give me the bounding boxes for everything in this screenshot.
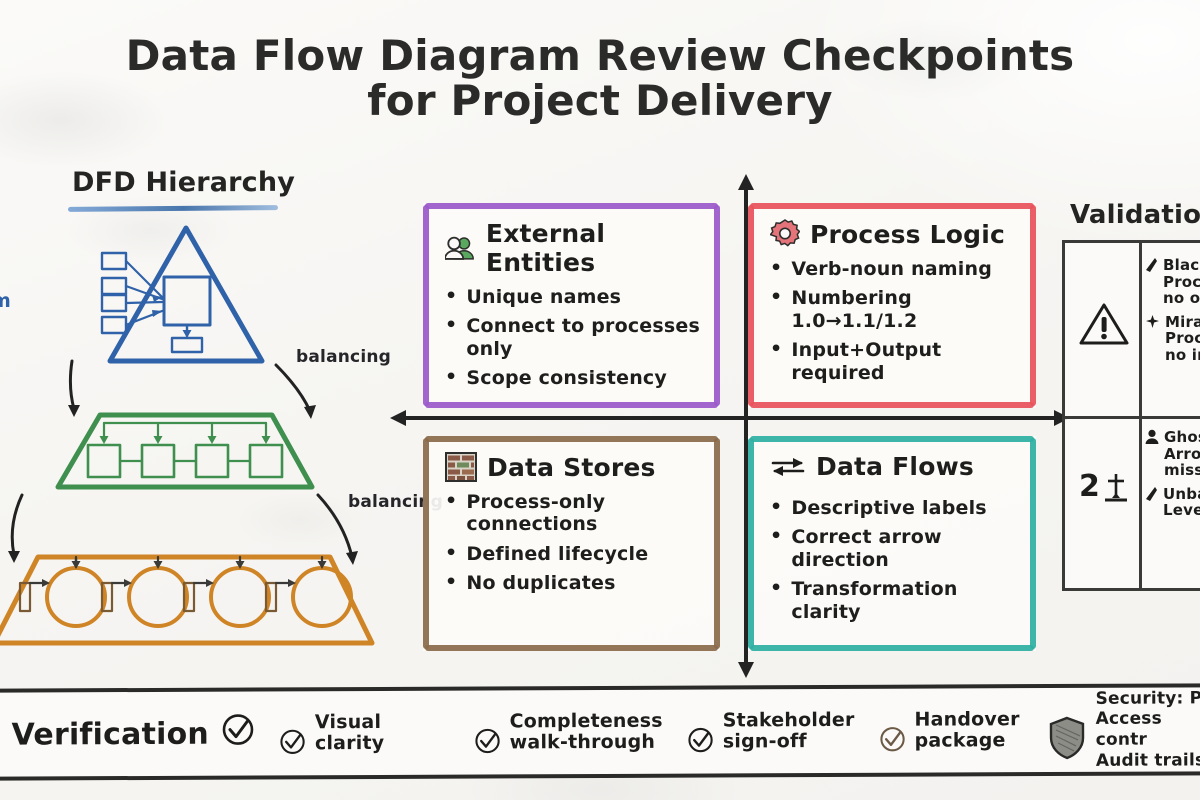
bullet-dot: • — [445, 286, 457, 308]
bullet-text: Connect to processes only — [466, 315, 702, 360]
person-icon — [1145, 429, 1159, 479]
card-bullets: •Unique names •Connect to processes only… — [445, 286, 702, 390]
bullet-dot: • — [770, 526, 782, 571]
bullet-dot: • — [770, 339, 782, 384]
validation-item: Black Proce no ou — [1145, 257, 1200, 307]
validation-item-text: Mirac Proce no in — [1165, 314, 1200, 364]
verification-item-label: Completeness walk-through — [510, 710, 663, 753]
bullet-item: •Scope consistency — [445, 367, 702, 389]
gear-icon — [770, 219, 800, 249]
verification-title: al Verification — [0, 713, 255, 756]
bullet-dot: • — [770, 258, 782, 280]
bullet-item: •Transformation clarity — [770, 578, 1018, 623]
bullet-text: Numbering 1.0→1.1/1.2 — [791, 287, 1018, 332]
verification-item-completeness-walkthrough[interactable]: Completeness walk-through — [473, 705, 662, 759]
warning-triangle-icon — [1069, 301, 1139, 351]
card-title-text: Data Flows — [816, 452, 974, 481]
bidirectional-arrows-icon — [770, 454, 806, 480]
bullet-item: •Descriptive labels — [770, 497, 1018, 519]
bullet-dot: • — [445, 367, 457, 389]
bullet-text: Defined lifecycle — [466, 543, 648, 565]
card-title-data-stores: Data Stores — [445, 452, 702, 482]
check-circle-icon — [221, 713, 255, 755]
bullet-dot: • — [770, 497, 782, 519]
dfd-hierarchy-panel: DFD Hierarchy 0 xt am 1 balancing balanc… — [0, 165, 418, 670]
validation-row-1-items: Black Proce no ou Mirac Proce no in — [1145, 257, 1200, 370]
bullet-text: Input+Output required — [791, 339, 1018, 384]
title-line-1: Data Flow Diagram Review Checkpoints — [0, 34, 1200, 79]
card-external-entities[interactable]: External Entities •Unique names •Connect… — [423, 203, 720, 408]
bullet-item: •Defined lifecycle — [445, 543, 702, 565]
card-title-external-entities: External Entities — [445, 219, 702, 277]
verification-title-text: al Verification — [0, 716, 209, 752]
card-bullets: •Descriptive labels •Correct arrow direc… — [770, 497, 1018, 623]
bullet-item: •Correct arrow direction — [770, 526, 1018, 571]
final-verification-bar: al Verification Visual clarity Completen… — [0, 683, 1200, 780]
validation-item-text: Ghos Arrow missi — [1164, 429, 1200, 479]
verification-item-visual-clarity[interactable]: Visual clarity — [279, 706, 450, 760]
bullet-text: Verb-noun naming — [791, 258, 992, 280]
bullet-item: •Unique names — [445, 286, 702, 308]
bullet-item: •Verb-noun naming — [770, 258, 1018, 280]
sparkle-icon — [1145, 314, 1160, 364]
card-title-text: Data Stores — [487, 453, 656, 482]
bullet-dot: • — [770, 287, 782, 332]
validation-row-2-badge: 2 — [1069, 469, 1139, 504]
verification-item-label: Handover package — [914, 709, 1019, 752]
validation-item-text: Black Proce no ou — [1163, 257, 1200, 307]
bullet-dot: • — [770, 578, 782, 623]
security-text: Security: PI Access contr Audit trails — [1096, 688, 1200, 771]
card-title-text: External Entities — [486, 219, 702, 277]
card-title-text: Process Logic — [810, 220, 1005, 249]
card-title-process-logic: Process Logic — [770, 219, 1018, 249]
validation-item: Mirac Proce no in — [1145, 314, 1200, 364]
validation-heading: Validation — [1070, 200, 1200, 230]
bullet-text: Transformation clarity — [791, 578, 1018, 623]
hierarchy-pyramid-drawing — [0, 165, 418, 670]
card-data-stores[interactable]: Data Stores •Process-only connections •D… — [423, 436, 720, 651]
check-circle-icon — [279, 707, 306, 761]
bullet-text: Descriptive labels — [791, 497, 986, 519]
validation-row-2-items: Ghos Arrow missi Unba Level — [1145, 429, 1200, 526]
balance-scale-icon — [1103, 471, 1129, 503]
bullet-item: •Connect to processes only — [445, 315, 702, 360]
bullet-dot: • — [445, 572, 457, 594]
bullet-dot: • — [445, 491, 457, 536]
check-circle-icon — [473, 706, 500, 760]
shield-icon — [1048, 695, 1086, 766]
verification-item-stakeholder-signoff[interactable]: Stakeholder sign-off — [687, 704, 855, 758]
security-block: Security: PI Access contr Audit trails — [1048, 688, 1200, 772]
validation-item-text: Unba Level — [1163, 486, 1200, 519]
verification-item-handover-package[interactable]: Handover package — [878, 703, 1019, 757]
verification-item-label: Visual clarity — [315, 711, 450, 754]
title-line-2: for Project Delivery — [0, 79, 1200, 124]
card-data-flows[interactable]: Data Flows •Descriptive labels •Correct … — [748, 436, 1036, 651]
table-row-divider — [1065, 416, 1200, 419]
card-process-logic[interactable]: Process Logic •Verb-noun naming •Numberi… — [748, 203, 1036, 408]
badge-number: 2 — [1079, 469, 1100, 504]
bullet-item: •Input+Output required — [770, 339, 1018, 384]
validation-item: Unba Level — [1145, 486, 1200, 519]
card-bullets: •Process-only connections •Defined lifec… — [445, 491, 702, 595]
brick-wall-icon — [445, 452, 477, 482]
check-circle-icon — [878, 704, 905, 758]
validation-panel: Validation Black Proce no ou M — [1062, 200, 1200, 590]
validation-table: Black Proce no ou Mirac Proce no in 2 — [1062, 240, 1200, 591]
bullet-text: Process-only connections — [466, 491, 605, 536]
bullet-dot: • — [445, 543, 457, 565]
card-title-data-flows: Data Flows — [770, 452, 1018, 481]
check-circle-icon — [687, 705, 714, 759]
page-title: Data Flow Diagram Review Checkpoints for… — [0, 34, 1200, 123]
people-icon — [445, 235, 476, 261]
bullet-text: Correct arrow direction — [791, 526, 1018, 571]
bullet-text: Unique names — [466, 286, 621, 308]
validation-item: Ghos Arrow missi — [1145, 429, 1200, 479]
bullet-item: •Process-only connections — [445, 491, 702, 536]
marker-icon — [1145, 257, 1158, 307]
card-bullets: •Verb-noun naming •Numbering 1.0→1.1/1.2… — [770, 258, 1018, 384]
bullet-text: Scope consistency — [466, 367, 667, 389]
marker-icon — [1145, 486, 1158, 519]
bullet-item: •Numbering 1.0→1.1/1.2 — [770, 287, 1018, 332]
verification-item-label: Stakeholder sign-off — [723, 710, 855, 753]
bullet-text: No duplicates — [466, 572, 615, 594]
bullet-item: •No duplicates — [445, 572, 702, 594]
bullet-dot: • — [445, 315, 457, 360]
